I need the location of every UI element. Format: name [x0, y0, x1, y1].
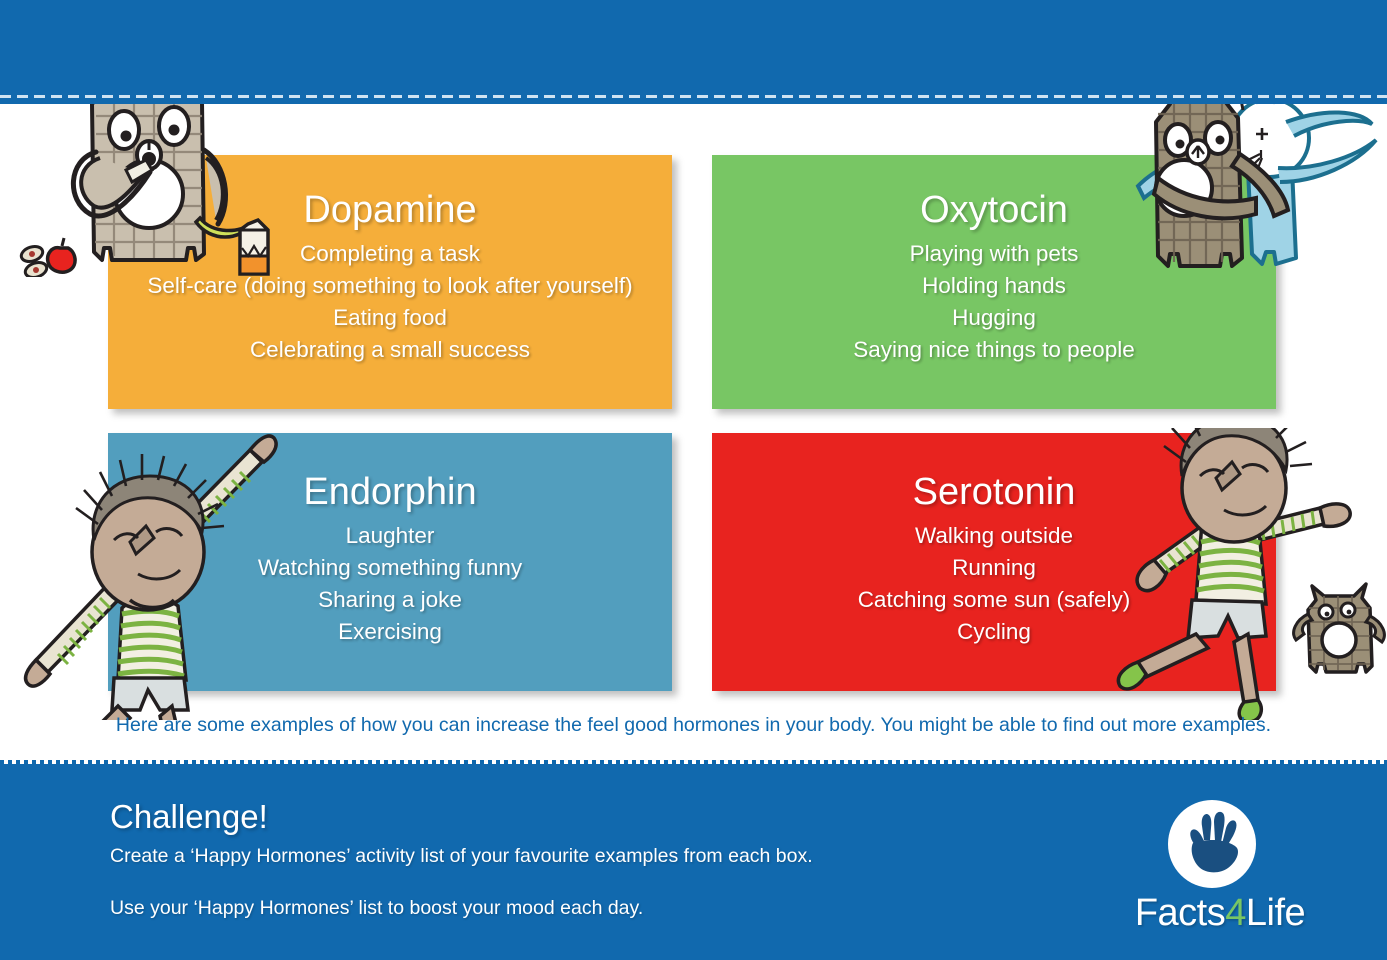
challenge-title: Challenge!: [110, 798, 930, 836]
boy-running-illustration: [1098, 428, 1387, 720]
challenge-section: Challenge! Create a ‘Happy Hormones’ act…: [110, 798, 930, 921]
challenge-line-1: Create a ‘Happy Hormones’ activity list …: [110, 843, 930, 869]
list-item: Eating food: [108, 302, 672, 334]
page-header: [0, 0, 1387, 104]
list-item: Hugging: [712, 302, 1276, 334]
logo-word-life: Life: [1246, 892, 1305, 934]
hand-icon: [1180, 810, 1244, 883]
logo-word-facts: Facts: [1135, 892, 1225, 934]
footer-jagged-divider: [0, 760, 1387, 764]
caption-text: Here are some examples of how you can in…: [0, 714, 1387, 737]
list-item: Saying nice things to people: [712, 334, 1276, 366]
poster-page: Feel Good Hormones: [0, 0, 1387, 960]
boy-arms-out-illustration: [18, 428, 313, 720]
list-item: Celebrating a small success: [108, 334, 672, 366]
facts4life-logo: Facts4Life: [1120, 800, 1320, 940]
header-dashed-divider: [0, 95, 1387, 98]
logo-wordmark: Facts4Life: [1120, 892, 1320, 935]
logo-word-four: 4: [1225, 892, 1246, 934]
challenge-line-2: Use your ‘Happy Hormones’ list to boost …: [110, 895, 930, 921]
